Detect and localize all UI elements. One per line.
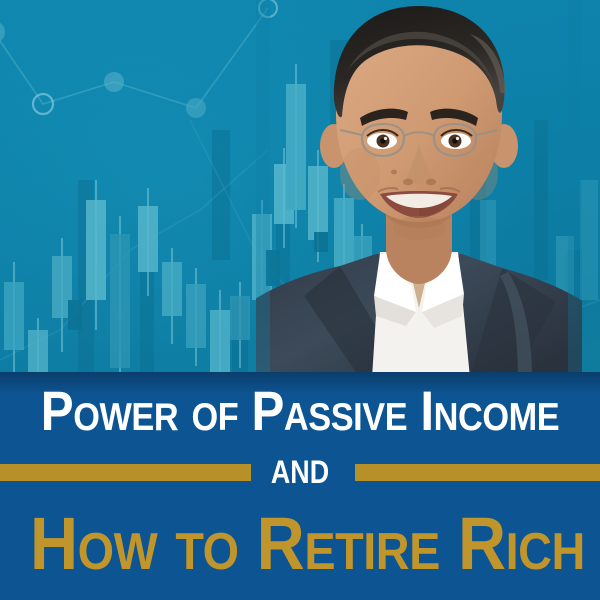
connector-row: and: [0, 443, 600, 487]
headline-line-1: Power of Passive Income: [36, 381, 564, 441]
podcast-cover-art: Power of Passive Income and How to Retir…: [0, 0, 600, 600]
connector-word: and: [48, 443, 552, 491]
headline-line-2: How to Retire Rich: [30, 505, 570, 583]
portrait-photo: [256, 0, 582, 378]
